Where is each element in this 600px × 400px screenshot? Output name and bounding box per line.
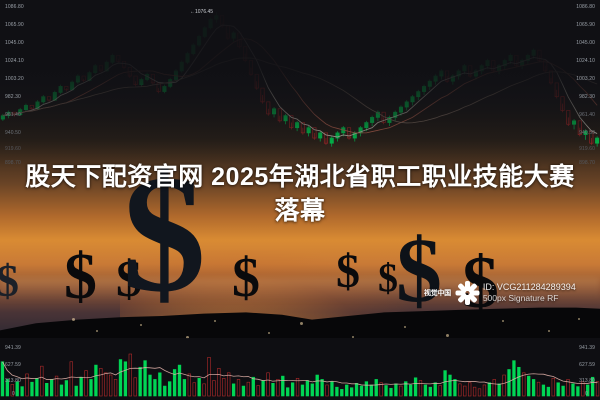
dollar-sign-silhouette: $ <box>0 258 19 304</box>
ground-speck <box>268 332 270 334</box>
price-axis-right-label: 1065.90 <box>576 22 595 28</box>
volume-axis-left-label: 0 <box>12 391 15 397</box>
dollar-sign-silhouette: $ <box>64 244 97 310</box>
price-axis-left-label: 1024.10 <box>5 58 24 64</box>
price-axis-left-label: 940.50 <box>5 130 21 136</box>
price-axis-right-label: 1086.80 <box>576 4 595 10</box>
screenshot-root: $ $ $ $ $ $ $ $ $ 1086.80 1065.90 1045.0… <box>0 0 600 400</box>
price-peak-annotation: ←1076.45 <box>190 9 213 15</box>
volume-axis-right-label: 0 <box>585 391 588 397</box>
watermark-text-block: ID: VCG211284289394 500px Signature RF <box>483 282 576 304</box>
headline-line-1: 股天下配资官网 2025年湖北省职工职业技能大赛 <box>14 160 586 194</box>
volume-axis-left-label: 627.59 <box>5 362 21 368</box>
volume-axis-left-label: 941.39 <box>5 345 21 351</box>
ground-speck <box>72 318 75 321</box>
headline: 股天下配资官网 2025年湖北省职工职业技能大赛 落幕 <box>0 160 600 228</box>
sunburst-icon <box>454 280 480 306</box>
ground-speck <box>404 326 406 328</box>
price-candlestick-chart[interactable] <box>0 0 600 168</box>
ground-speck <box>140 324 142 326</box>
dollar-sign-silhouette: $ <box>232 250 260 306</box>
volume-axis-left-label: 313.80 <box>5 378 21 384</box>
price-axis-left-label: 1045.00 <box>5 40 24 46</box>
price-axis-left-label: 982.30 <box>5 94 21 100</box>
price-axis-left-label: 1086.80 <box>5 4 24 10</box>
watermark-source: 500px Signature RF <box>483 293 576 304</box>
price-axis-left-label: 919.60 <box>5 146 21 152</box>
volume-axis-right-label: 627.59 <box>579 362 595 368</box>
volume-chart[interactable] <box>0 338 600 400</box>
ground-speck <box>502 320 504 322</box>
price-axis-left-label: 961.40 <box>5 112 21 118</box>
volume-chart-canvas <box>0 338 600 400</box>
dollar-sign-silhouette: $ <box>378 258 398 298</box>
price-axis-left-label: 1003.20 <box>5 76 24 82</box>
ground-speck <box>548 330 550 332</box>
price-axis-left-label: 1065.90 <box>5 22 24 28</box>
price-axis-right-label: 1024.10 <box>576 58 595 64</box>
ground-speck <box>578 318 580 320</box>
price-axis-right-label: 940.50 <box>579 130 595 136</box>
volume-axis-right-label: 941.39 <box>579 345 595 351</box>
ground-speck <box>300 322 303 325</box>
dollar-sign-silhouette: $ <box>336 248 360 296</box>
price-axis-right-label: 961.40 <box>579 112 595 118</box>
stock-photo-watermark: 视觉中国 ID: VCG211284289394 500px Signature… <box>424 280 576 306</box>
ground-speck <box>214 320 216 322</box>
watermark-image-id: ID: VCG211284289394 <box>483 282 576 293</box>
visual-china-logo-text: 视觉中国 <box>424 288 451 298</box>
ground-speck <box>96 330 98 332</box>
volume-axis-right-label: 313.80 <box>579 378 595 384</box>
headline-line-2: 落幕 <box>14 194 586 228</box>
price-chart-canvas <box>0 0 600 168</box>
price-axis-right-label: 1045.00 <box>576 40 595 46</box>
price-axis-right-label: 982.30 <box>579 94 595 100</box>
ground-speck <box>446 334 449 337</box>
price-axis-right-label: 919.60 <box>579 146 595 152</box>
price-axis-right-label: 1003.20 <box>576 76 595 82</box>
